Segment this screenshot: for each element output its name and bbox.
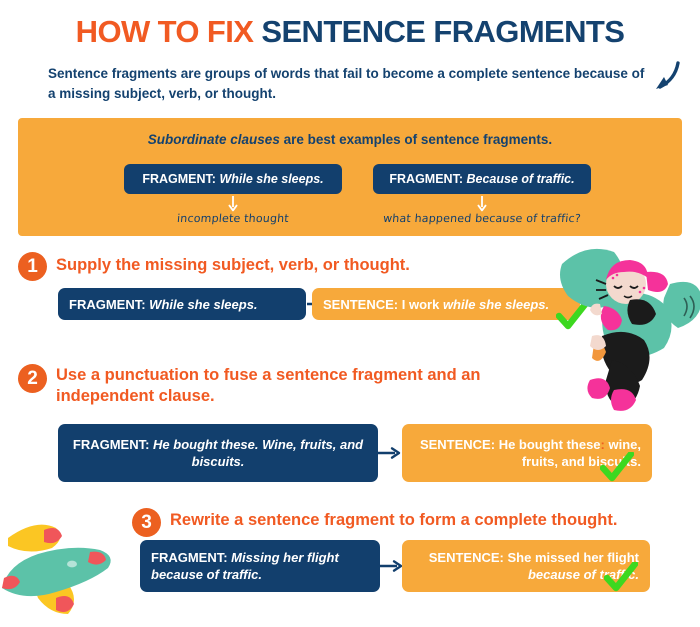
step-heading-2: Use a punctuation to fuse a sentence fra… — [56, 365, 566, 407]
intro-fragment-label-1: FRAGMENT: — [142, 172, 216, 186]
step-2-fragment-label: FRAGMENT: — [73, 437, 150, 452]
intro-panel: Subordinate clauses are best examples of… — [18, 118, 682, 236]
green-check-icon — [556, 300, 590, 332]
step-1-sentence-italic: while she sleeps. — [443, 297, 549, 312]
sleeping-person-illustration — [552, 240, 700, 425]
step-number-1: 1 — [18, 252, 47, 281]
step-3-fragment-label: FRAGMENT: — [151, 550, 228, 565]
down-arrow-icon — [477, 196, 487, 212]
intro-lead-text: Subordinate clauses are best examples of… — [18, 132, 682, 147]
page-title: HOW TO FIX SENTENCE FRAGMENTS — [0, 14, 700, 50]
intro-note-1: incomplete thought — [132, 212, 333, 225]
intro-lead-emphasis: Subordinate clauses — [148, 132, 280, 147]
intro-note-2: what happened because of traffic? — [366, 212, 597, 225]
intro-fragment-text-1: While she sleeps. — [219, 172, 323, 186]
step-heading-3: Rewrite a sentence fragment to form a co… — [170, 510, 617, 531]
step-number-3: 3 — [132, 508, 161, 537]
curved-down-left-arrow-icon — [648, 60, 682, 94]
step-1-sentence-label: SENTENCE: — [323, 297, 398, 312]
step-1-sentence-plain: I work — [402, 297, 443, 312]
step-number-2: 2 — [18, 364, 47, 393]
intro-lead-rest: are best examples of sentence fragments. — [280, 132, 552, 147]
page-title-navy: SENTENCE FRAGMENTS — [261, 14, 624, 49]
step-2-fragment-box: FRAGMENT: He bought these. Wine, fruits,… — [58, 424, 378, 482]
page-title-orange: HOW TO FIX — [76, 14, 262, 49]
intro-fragment-text-2: Because of traffic. — [466, 172, 574, 186]
step-3-fragment-box: FRAGMENT: Missing her flight because of … — [140, 540, 380, 592]
green-check-icon — [600, 452, 634, 484]
down-arrow-icon — [228, 196, 238, 212]
step-2-sentence-plain-a: He bought these — [499, 437, 601, 452]
right-arrow-icon — [380, 559, 404, 573]
step-2-sentence-label: SENTENCE: — [420, 437, 495, 452]
page-subtitle: Sentence fragments are groups of words t… — [48, 64, 648, 104]
step-3-sentence-label: SENTENCE: — [429, 550, 504, 565]
step-1-sentence-box: SENTENCE: I work while she sleeps. — [312, 288, 580, 320]
intro-fragment-label-2: FRAGMENT: — [389, 172, 463, 186]
intro-fragment-pill-1: FRAGMENT: While she sleeps. — [124, 164, 342, 194]
step-1-fragment-text: While she sleeps. — [149, 297, 257, 312]
intro-fragment-pill-2: FRAGMENT: Because of traffic. — [373, 164, 591, 194]
step-1-fragment-box: FRAGMENT: While she sleeps. — [58, 288, 306, 320]
step-1-fragment-label: FRAGMENT: — [69, 297, 146, 312]
step-heading-1: Supply the missing subject, verb, or tho… — [56, 255, 410, 276]
green-check-icon — [604, 562, 638, 594]
right-arrow-icon — [378, 446, 402, 460]
step-2-fragment-text: He bought these. Wine, fruits, and biscu… — [153, 437, 363, 469]
